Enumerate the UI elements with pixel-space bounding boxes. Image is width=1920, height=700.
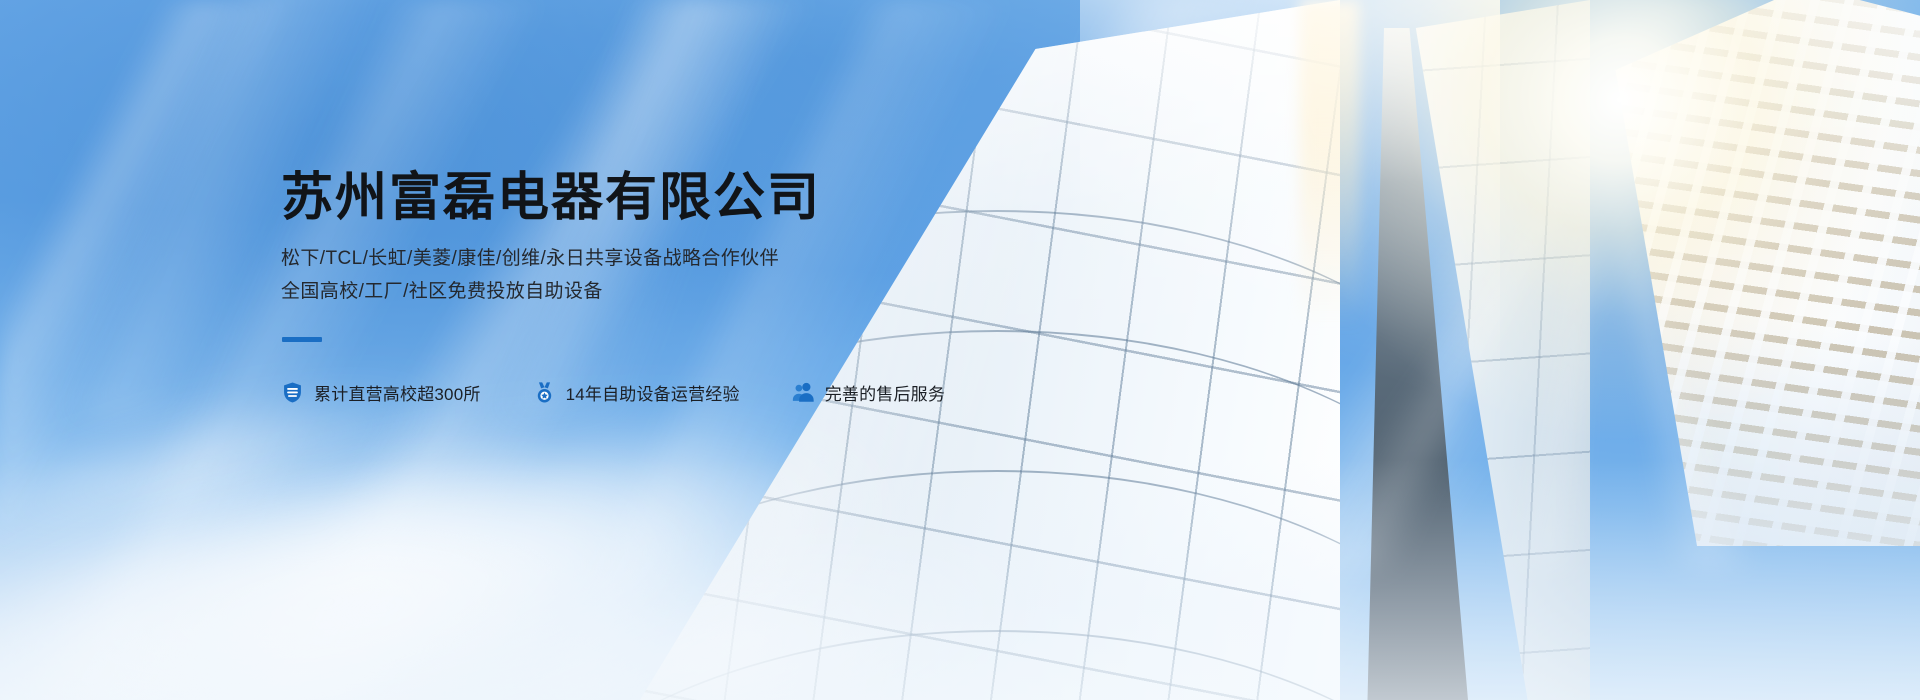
banner-subtitle: 松下/TCL/长虹/美菱/康佳/创维/永日共享设备战略合作伙伴 全国高校/工厂/…: [281, 243, 1161, 308]
feature-badge-list: 累计直营高校超300所 14年自助设备运营经验: [281, 380, 1161, 405]
feature-label: 累计直营高校超300所: [314, 380, 481, 405]
tower-spine-sunglow: [1300, 0, 1360, 330]
medal-icon: [533, 381, 556, 404]
feature-label: 完善的售后服务: [825, 380, 945, 405]
shield-icon: [281, 381, 304, 404]
feature-badge-campuses: 累计直营高校超300所: [281, 380, 481, 405]
bottom-haze: [0, 460, 1920, 700]
feature-badge-experience: 14年自助设备运营经验: [533, 380, 740, 405]
feature-label: 14年自助设备运营经验: [566, 380, 740, 405]
hero-banner: 苏州富磊电器有限公司 松下/TCL/长虹/美菱/康佳/创维/永日共享设备战略合作…: [0, 0, 1920, 700]
banner-content: 苏州富磊电器有限公司 松下/TCL/长虹/美菱/康佳/创维/永日共享设备战略合作…: [281, 168, 1161, 405]
users-icon: [792, 381, 815, 404]
subtitle-line-1: 松下/TCL/长虹/美菱/康佳/创维/永日共享设备战略合作伙伴: [281, 243, 1161, 276]
subtitle-line-2: 全国高校/工厂/社区免费投放自助设备: [281, 276, 1161, 309]
accent-divider: [282, 337, 322, 342]
page-title: 苏州富磊电器有限公司: [281, 168, 1161, 229]
feature-badge-service: 完善的售后服务: [792, 380, 945, 405]
